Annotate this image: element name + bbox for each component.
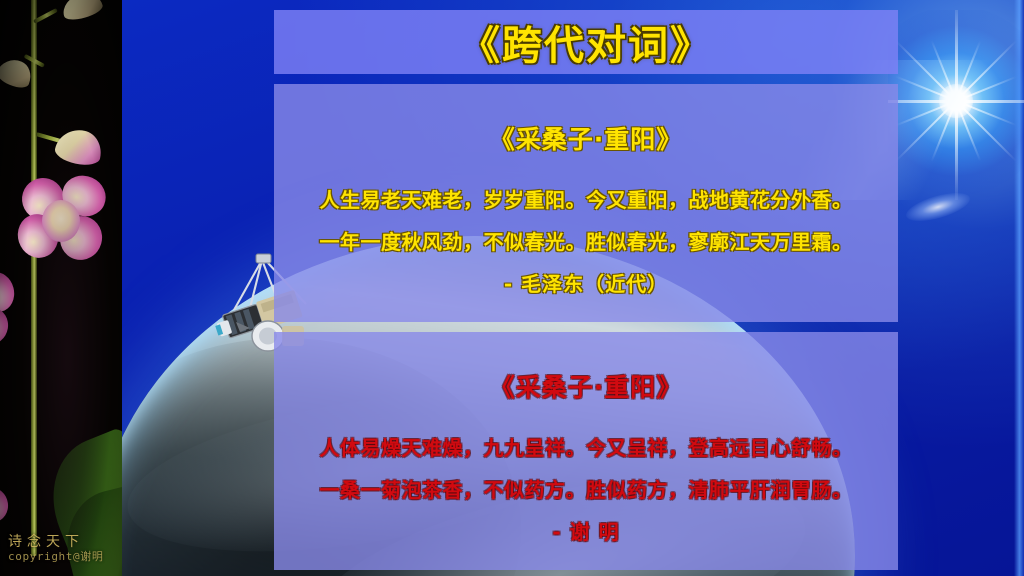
- starburst-core: [939, 84, 973, 118]
- poem-heading: 《采桑子·重阳》: [274, 120, 898, 156]
- poem-author: - 谢 明: [274, 516, 898, 545]
- orchid-petal: [0, 305, 11, 346]
- orchid-photo: [0, 0, 122, 576]
- title-panel: 《跨代对词》: [274, 10, 898, 74]
- poem-panel-1: 《采桑子·重阳》 人生易老天难老，岁岁重阳。今又重阳，战地黄花分外香。 一年一度…: [274, 84, 898, 322]
- orchid-bud: [53, 126, 105, 169]
- orchid-petal: [0, 486, 10, 524]
- page-title: 《跨代对词》: [460, 13, 712, 71]
- orchid-bud: [59, 0, 104, 23]
- poem-line: 一桑一菊泡茶香，不似药方。胜似药方，清肺平肝润胃肠。: [274, 474, 898, 503]
- orchid-stem: [31, 0, 37, 556]
- watermark: 诗念天下 copyright@谢明: [8, 534, 103, 564]
- poem-panel-2: 《采桑子·重阳》 人体易燥天难燥，九九呈祥。今又呈祥，登高远目心舒畅。 一桑一菊…: [274, 332, 898, 570]
- orchid-lip: [42, 200, 80, 242]
- poem-block-1: 《采桑子·重阳》 人生易老天难老，岁岁重阳。今又重阳，战地黄花分外香。 一年一度…: [274, 84, 898, 297]
- poem-author: - 毛泽东（近代）: [274, 268, 898, 297]
- poem-line: 一年一度秋风劲，不似春光。胜似春光，寥廓江天万里霜。: [274, 226, 898, 255]
- poem-line: 人体易燥天难燥，九九呈祥。今又呈祥，登高远目心舒畅。: [274, 432, 898, 461]
- poem-line: 人生易老天难老，岁岁重阳。今又重阳，战地黄花分外香。: [274, 184, 898, 213]
- orchid-petal: [0, 268, 18, 315]
- poem-block-2: 《采桑子·重阳》 人体易燥天难燥，九九呈祥。今又呈祥，登高远目心舒畅。 一桑一菊…: [274, 332, 898, 545]
- watermark-title: 诗念天下: [8, 534, 103, 550]
- watermark-copyright: copyright@谢明: [8, 551, 103, 564]
- poem-heading: 《采桑子·重阳》: [274, 368, 898, 404]
- starburst-light-icon: [888, 10, 1024, 200]
- presentation-slide: 诗念天下 copyright@谢明 《跨代对词》 《采桑子·重阳》 人生易老天难…: [0, 0, 1024, 576]
